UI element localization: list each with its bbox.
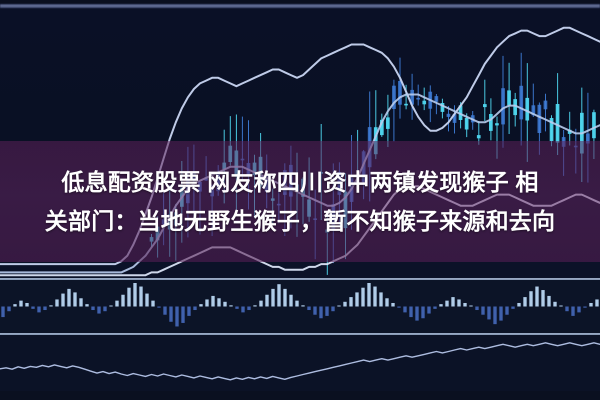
- headline-text-block: 低息配资股票 网友称四川资中两镇发现猴子 相 关部门：当地无野生猴子，暂不知猴子…: [0, 141, 600, 262]
- headline-line-1: 低息配资股票 网友称四川资中两镇发现猴子 相: [61, 163, 538, 202]
- momentum-line-path: [0, 343, 600, 380]
- macd-histogram-bars: [0, 280, 600, 333]
- momentum-indicator-panel: [0, 335, 600, 391]
- bottom-strip: [0, 391, 600, 400]
- stock-chart-banner-image: 低息配资股票 网友称四川资中两镇发现猴子 相 关部门：当地无野生猴子，暂不知猴子…: [0, 0, 600, 400]
- momentum-indicator-line: [0, 335, 600, 391]
- macd-histogram-panel: [0, 280, 600, 333]
- headline-line-2: 关部门：当地无野生猴子，暂不知猴子来源和去向: [45, 202, 555, 241]
